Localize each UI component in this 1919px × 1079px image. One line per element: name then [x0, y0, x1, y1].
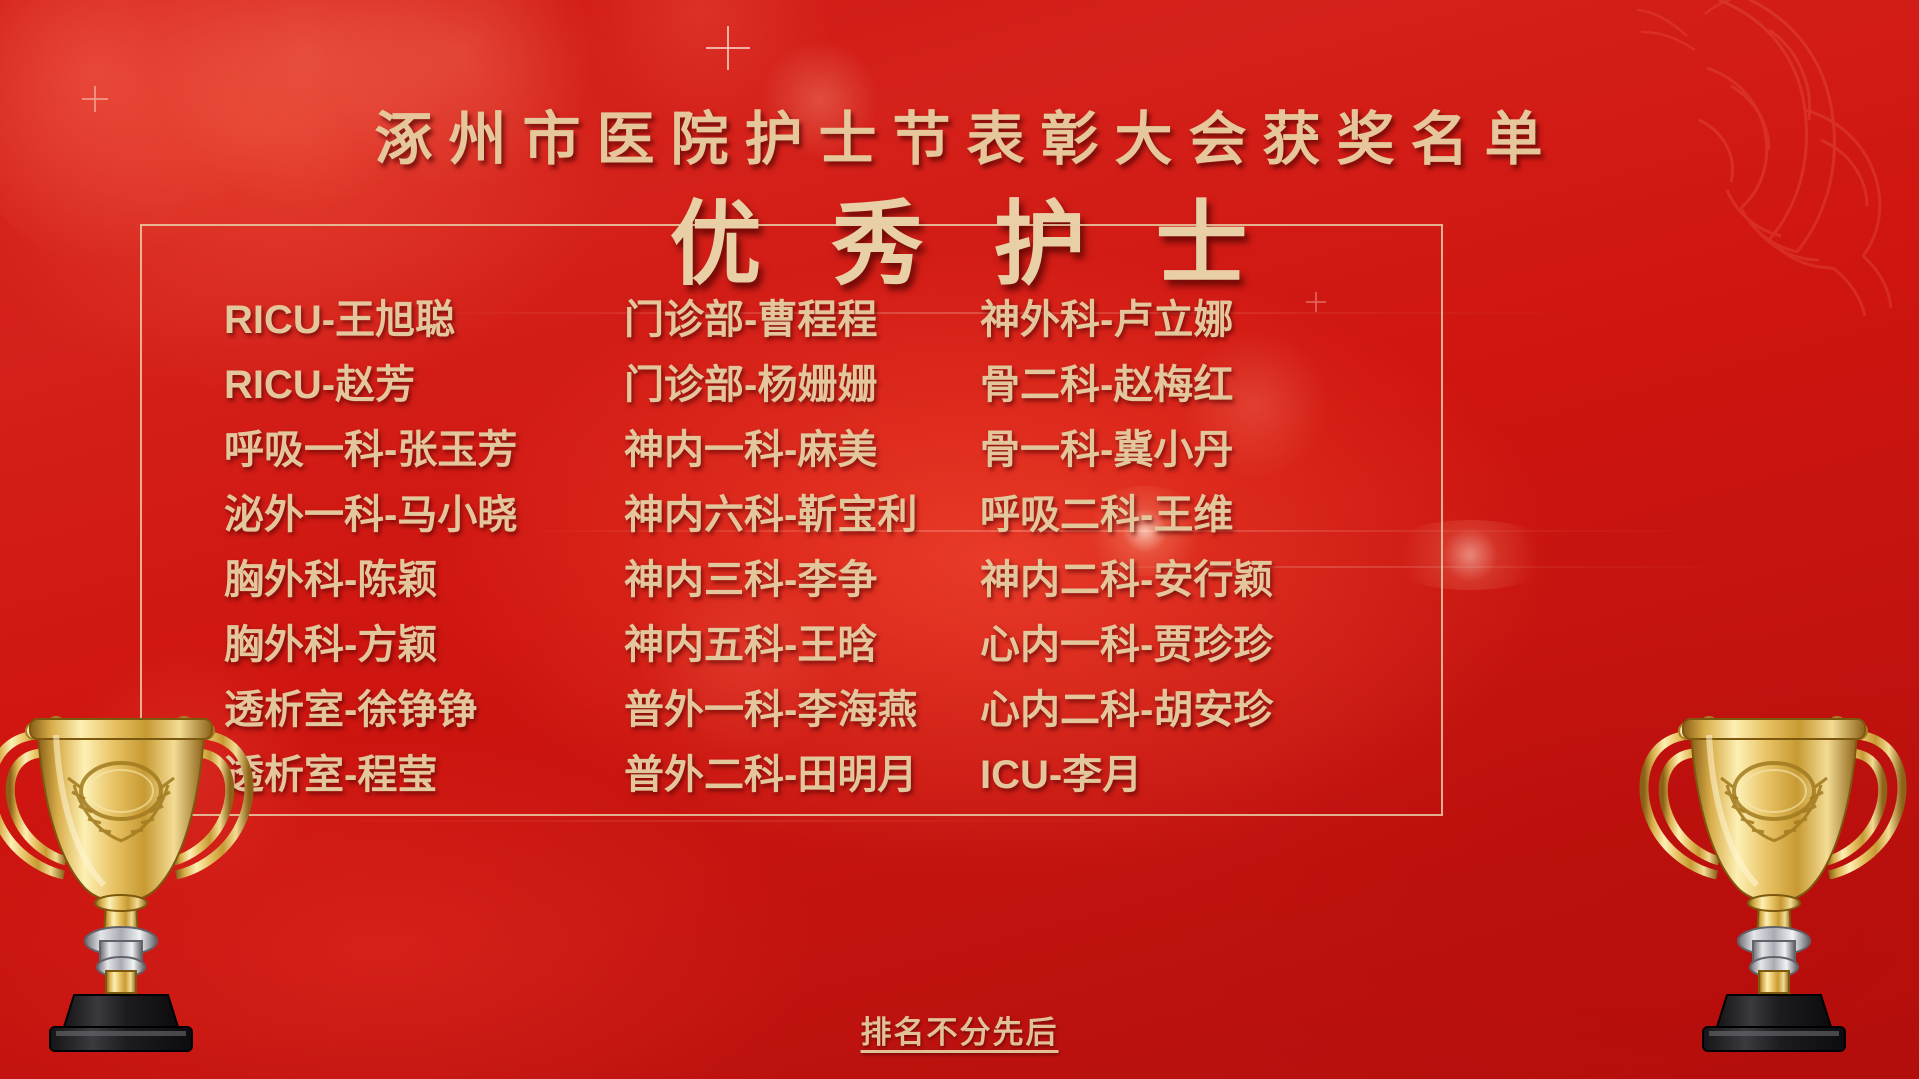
list-item: 神内一科-麻美 [554, 418, 944, 483]
list-item: 胸外科-方颖 [150, 613, 540, 678]
list-item: RICU-赵芳 [150, 353, 540, 418]
sparkle-icon [706, 26, 750, 70]
list-item: 神内六科-靳宝利 [554, 483, 944, 548]
list-item: 神内三科-李争 [554, 548, 944, 613]
list-item: 门诊部-曹程程 [554, 288, 944, 353]
list-item: 骨一科-冀小丹 [958, 418, 1378, 483]
list-item: 神内五科-王晗 [554, 613, 944, 678]
list-item: RICU-王旭聪 [150, 288, 540, 353]
footer-note: 排名不分先后 [0, 1007, 1919, 1052]
awardee-column-1: RICU-王旭聪 RICU-赵芳 呼吸一科-张玉芳 泌外一科-马小晓 胸外科-陈… [150, 288, 540, 808]
list-item: 门诊部-杨姗姗 [554, 353, 944, 418]
list-item: 心内一科-贾珍珍 [958, 613, 1378, 678]
award-poster: 涿州市医院护士节表彰大会获奖名单 优秀护士 RICU-王旭聪 RICU-赵芳 呼… [0, 0, 1919, 1079]
list-item: 普外一科-李海燕 [554, 678, 944, 743]
list-item: 呼吸二科-王维 [958, 483, 1378, 548]
list-item: 透析室-徐铮铮 [150, 678, 540, 743]
page-title: 涿州市医院护士节表彰大会获奖名单 [0, 92, 1919, 176]
trophy-icon [1639, 635, 1919, 1065]
light-streak [300, 820, 1200, 822]
list-item: 泌外一科-马小晓 [150, 483, 540, 548]
awardee-column-2: 门诊部-曹程程 门诊部-杨姗姗 神内一科-麻美 神内六科-靳宝利 神内三科-李争… [554, 288, 944, 808]
list-item: 神外科-卢立娜 [958, 288, 1378, 353]
awardee-column-3: 神外科-卢立娜 骨二科-赵梅红 骨一科-冀小丹 呼吸二科-王维 神内二科-安行颖… [958, 288, 1378, 808]
list-item: 普外二科-田明月 [554, 743, 944, 808]
list-item: 呼吸一科-张玉芳 [150, 418, 540, 483]
list-item: 胸外科-陈颖 [150, 548, 540, 613]
list-item: 骨二科-赵梅红 [958, 353, 1378, 418]
list-item: 透析室-程莹 [150, 743, 540, 808]
list-item: ICU-李月 [958, 743, 1378, 808]
awardee-list: RICU-王旭聪 RICU-赵芳 呼吸一科-张玉芳 泌外一科-马小晓 胸外科-陈… [150, 288, 1440, 808]
list-item: 心内二科-胡安珍 [958, 678, 1378, 743]
list-item: 神内二科-安行颖 [958, 548, 1378, 613]
